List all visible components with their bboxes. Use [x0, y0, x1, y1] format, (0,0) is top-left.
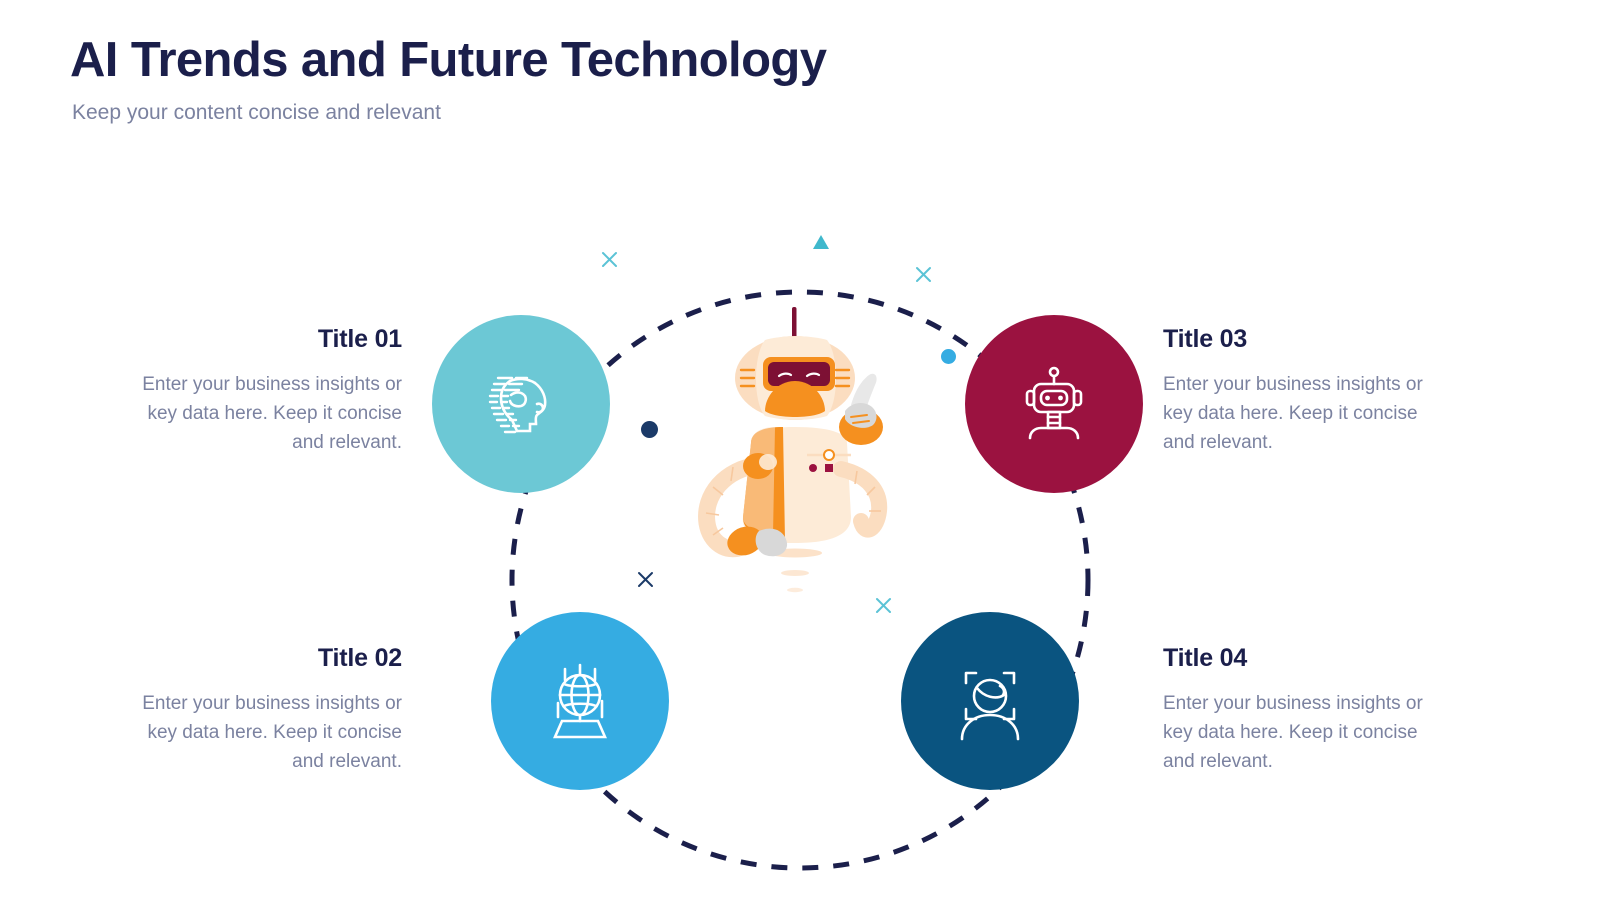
item-title-04: Title 04 [1163, 644, 1435, 673]
item-title-03: Title 03 [1163, 325, 1435, 354]
item-title-02: Title 02 [130, 644, 402, 673]
item-body-02: Enter your business insights or key data… [130, 689, 402, 776]
slide-canvas: AI Trends and Future Technology Keep you… [0, 0, 1600, 900]
ai-head-profile-icon [475, 358, 567, 450]
text-block-01: Title 01 Enter your business insights or… [130, 325, 402, 457]
text-block-02: Title 02 Enter your business insights or… [130, 644, 402, 776]
cross-mark-icon [598, 248, 624, 274]
globe-hologram-icon [534, 655, 626, 747]
page-title: AI Trends and Future Technology [70, 34, 826, 87]
item-body-04: Enter your business insights or key data… [1163, 689, 1435, 776]
item-body-01: Enter your business insights or key data… [130, 370, 402, 457]
node-circle-01[interactable] [432, 315, 610, 493]
face-recognition-icon [944, 655, 1036, 747]
page-subtitle: Keep your content concise and relevant [72, 101, 826, 125]
triangle-mark-icon [810, 232, 832, 252]
item-title-01: Title 01 [130, 325, 402, 354]
item-body-03: Enter your business insights or key data… [1163, 370, 1435, 457]
node-circle-04[interactable] [901, 612, 1079, 790]
robot-mascot-illustration [655, 285, 935, 605]
slide-header: AI Trends and Future Technology Keep you… [70, 34, 826, 125]
node-circle-03[interactable] [965, 315, 1143, 493]
text-block-03: Title 03 Enter your business insights or… [1163, 325, 1435, 457]
robot-head-icon [1008, 358, 1100, 450]
text-block-04: Title 04 Enter your business insights or… [1163, 644, 1435, 776]
node-circle-02[interactable] [491, 612, 669, 790]
